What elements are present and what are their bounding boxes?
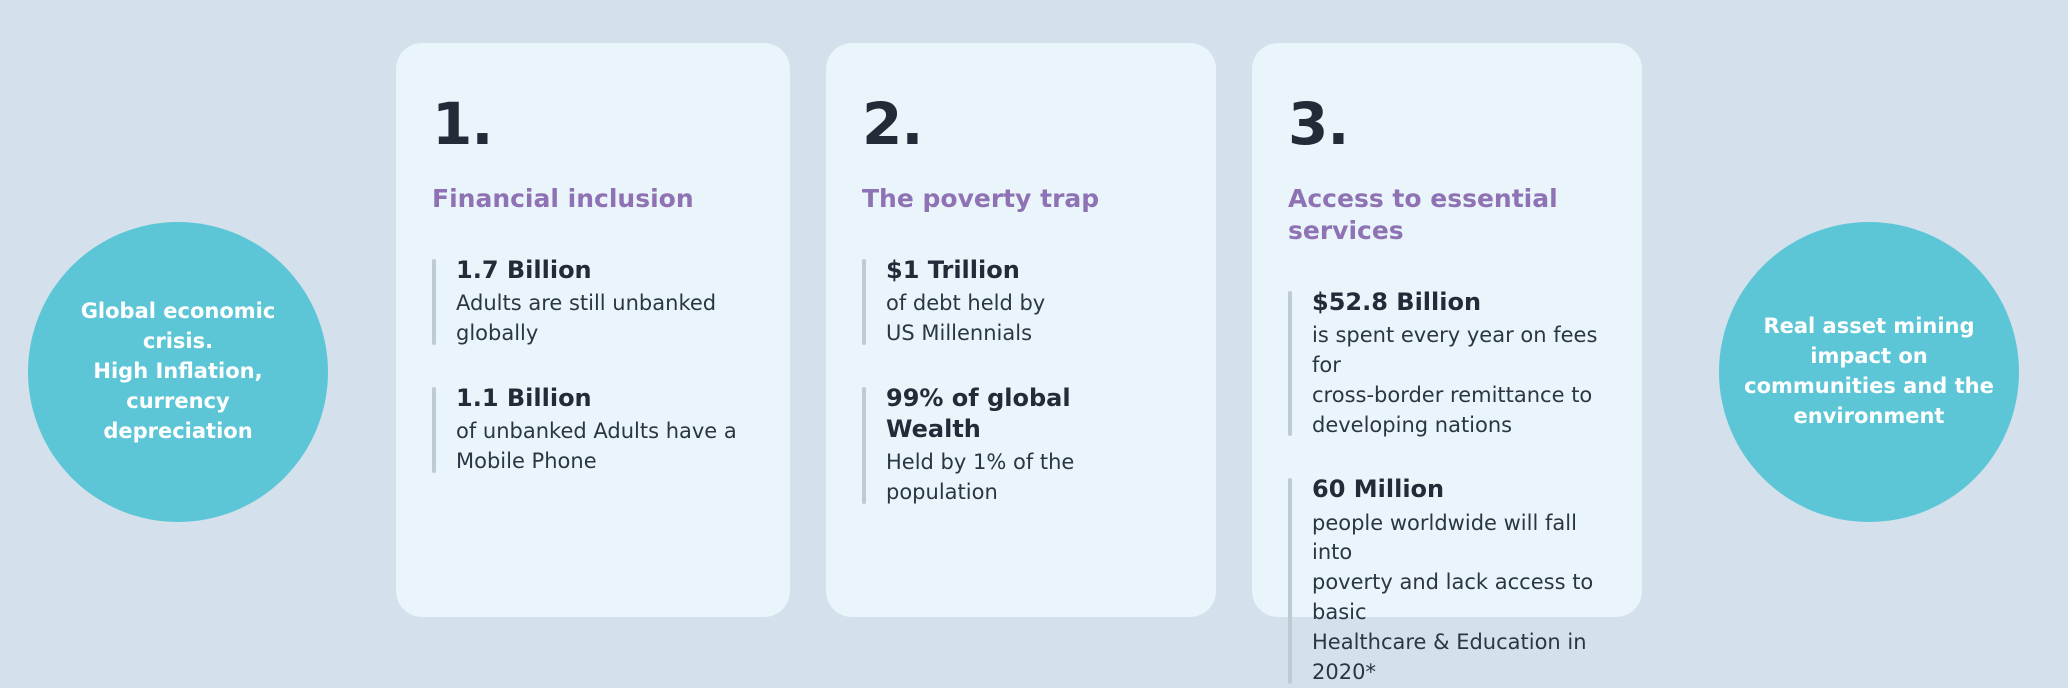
right-context-circle: Real asset mining impact on communities … xyxy=(1719,222,2019,522)
stat-accent-bar xyxy=(862,387,866,504)
stat-accent-bar xyxy=(862,259,866,345)
card-title: Financial inclusion xyxy=(432,183,732,215)
left-circle-line-3: High Inflation, xyxy=(81,357,276,387)
stat-item: 99% of global Wealth Held by 1% of the p… xyxy=(862,383,1172,508)
right-circle-line-4: environment xyxy=(1744,402,1994,432)
left-circle-text: Global economic crisis. High Inflation, … xyxy=(81,297,276,446)
stat-description: Adults are still unbanked globally xyxy=(456,289,746,349)
left-circle-line-4: currency xyxy=(81,387,276,417)
right-circle-line-2: impact on xyxy=(1744,342,1994,372)
right-circle-line-1: Real asset mining xyxy=(1744,312,1994,342)
stat-item: $52.8 Billion is spent every year on fee… xyxy=(1288,287,1598,440)
left-context-circle: Global economic crisis. High Inflation, … xyxy=(28,222,328,522)
infographic-stage: Global economic crisis. High Inflation, … xyxy=(0,0,2068,676)
stat-item: 60 Million people worldwide will fall in… xyxy=(1288,474,1598,687)
stat-accent-bar xyxy=(432,387,436,473)
stat-description: Held by 1% of the population xyxy=(886,448,1172,508)
stat-item: $1 Trillion of debt held by US Millennia… xyxy=(862,255,1172,349)
stat-value: $52.8 Billion xyxy=(1312,287,1598,318)
card-number: 2. xyxy=(862,95,1172,153)
stats-list: $1 Trillion of debt held by US Millennia… xyxy=(862,255,1172,508)
stats-list: $52.8 Billion is spent every year on fee… xyxy=(1288,287,1598,688)
stat-description: is spent every year on fees for cross-bo… xyxy=(1312,321,1598,440)
stat-value: 1.7 Billion xyxy=(456,255,746,286)
right-circle-text: Real asset mining impact on communities … xyxy=(1744,312,1994,431)
right-circle-line-3: communities and the xyxy=(1744,372,1994,402)
stat-description: of unbanked Adults have a Mobile Phone xyxy=(456,417,746,477)
stat-item: 1.1 Billion of unbanked Adults have a Mo… xyxy=(432,383,746,477)
stat-description: of debt held by US Millennials xyxy=(886,289,1172,349)
card-financial-inclusion: 1. Financial inclusion 1.7 Billion Adult… xyxy=(396,43,790,617)
cards-container: 1. Financial inclusion 1.7 Billion Adult… xyxy=(396,43,1642,617)
left-circle-line-2: crisis. xyxy=(81,327,276,357)
stat-accent-bar xyxy=(1288,291,1292,436)
left-circle-line-5: depreciation xyxy=(81,417,276,447)
card-title: The poverty trap xyxy=(862,183,1162,215)
stat-item: 1.7 Billion Adults are still unbanked gl… xyxy=(432,255,746,349)
card-poverty-trap: 2. The poverty trap $1 Trillion of debt … xyxy=(826,43,1216,617)
stat-value: 1.1 Billion xyxy=(456,383,746,414)
card-number: 1. xyxy=(432,95,746,153)
left-circle-line-1: Global economic xyxy=(81,297,276,327)
stat-accent-bar xyxy=(432,259,436,345)
stat-description: people worldwide will fall into poverty … xyxy=(1312,509,1598,688)
stat-accent-bar xyxy=(1288,478,1292,683)
card-access-essential-services: 3. Access to essential services $52.8 Bi… xyxy=(1252,43,1642,617)
card-number: 3. xyxy=(1288,95,1598,153)
card-title: Access to essential services xyxy=(1288,183,1588,247)
stat-value: 99% of global Wealth xyxy=(886,383,1172,445)
stats-list: 1.7 Billion Adults are still unbanked gl… xyxy=(432,255,746,477)
stat-value: 60 Million xyxy=(1312,474,1598,505)
stat-value: $1 Trillion xyxy=(886,255,1172,286)
